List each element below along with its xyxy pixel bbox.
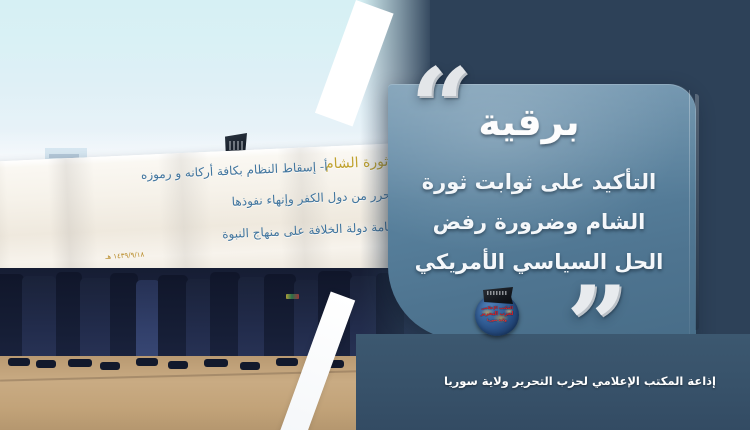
emblem-line-1: المكتب الإعلامي	[481, 305, 513, 310]
body-line-3: الحل السياسي الأمريكي	[396, 242, 682, 282]
shoe	[36, 360, 56, 368]
quote-close-icon: ”	[566, 272, 624, 380]
shoulder-strap	[286, 294, 299, 299]
shoe	[204, 359, 228, 367]
body-line-2: الشام وضرورة رفض	[396, 202, 682, 242]
card-body: التأكيد على ثوابت ثورة الشام وضرورة رفض …	[396, 162, 682, 282]
banner-point-a: أ- إسقاط النظام بكافة أركانه و رموزه	[141, 159, 328, 181]
shoe	[8, 358, 30, 366]
shoe	[136, 358, 158, 366]
emblem-line-3: ولاية سوريا	[472, 317, 522, 323]
organization-emblem-icon: المكتب الإعلامي لحزب التحرير ولاية سوريا	[472, 287, 522, 337]
shoe	[168, 361, 188, 369]
footer-caption: إذاعة المكتب الإعلامي لحزب التحرير ولاية…	[420, 374, 740, 388]
banner-date-stamp: ١٤٣٩/٩/١٨ هـ	[105, 251, 144, 261]
shoe	[240, 362, 260, 370]
shoe	[100, 362, 120, 370]
quote-open-icon: “	[410, 54, 468, 162]
poster-canvas: ثوابت ثورة الشام أ- إسقاط النظام بكافة أ…	[0, 0, 750, 430]
emblem-black-flag-icon	[483, 287, 513, 304]
shoe	[68, 359, 92, 367]
shoe	[276, 358, 298, 366]
emblem-text: المكتب الإعلامي لحزب التحرير ولاية سوريا	[472, 305, 522, 323]
